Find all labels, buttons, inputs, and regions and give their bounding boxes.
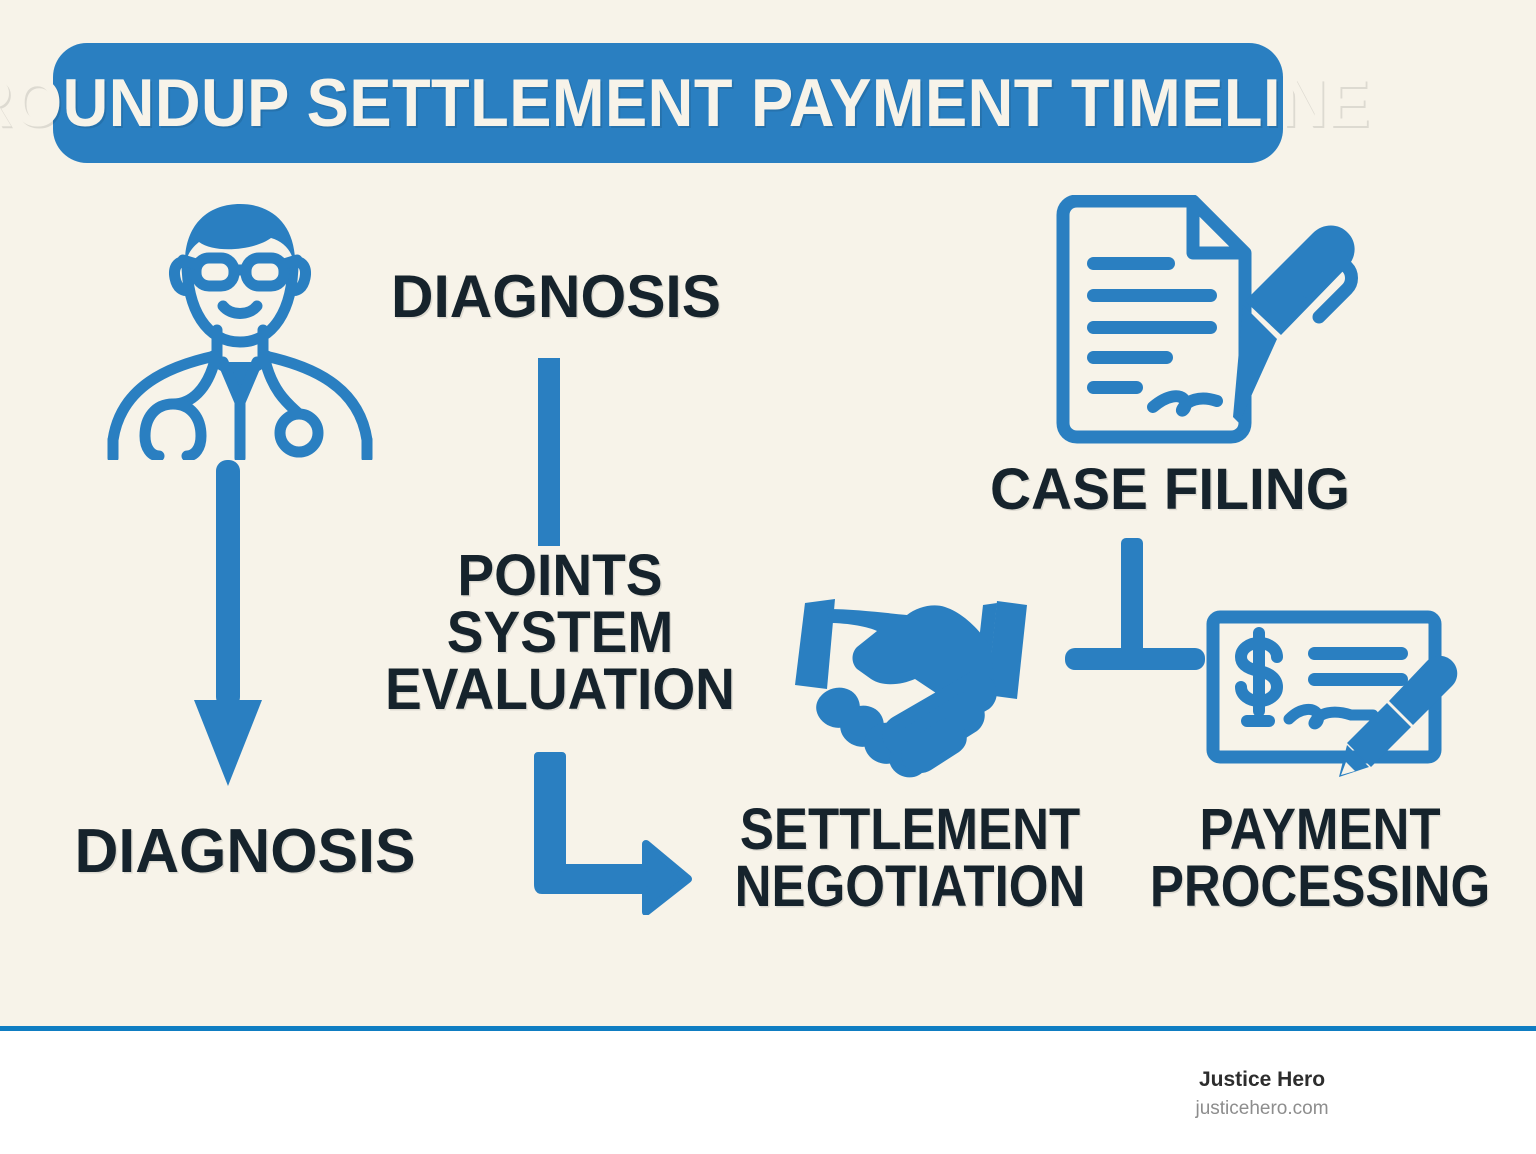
step-label-points-system-evaluation: POINTS SYSTEM EVALUATION [361,548,760,718]
doctor-icon [95,190,385,460]
handshake-icon [765,595,1065,790]
document-pen-icon [1045,195,1375,460]
infographic-root: ROUNDUP SETTLEMENT PAYMENT TIMELINE [0,0,1536,1154]
title-banner: ROUNDUP SETTLEMENT PAYMENT TIMELINE [53,43,1283,163]
footer-website-url: justicehero.com [1122,1095,1402,1124]
footer-branding: Justice Hero justicehero.com [1122,1065,1402,1124]
footer: Justice Hero justicehero.com [0,1031,1536,1154]
vertical-bar-connector-icon [538,358,560,546]
step-label-payment-processing: PAYMENT PROCESSING [1135,802,1505,916]
footer-brand-name: Justice Hero [1122,1065,1402,1095]
step-label-case-filing: CASE FILING [945,462,1396,519]
step-label-diagnosis-top: DIAGNOSIS [360,268,752,327]
tee-connector-icon [1065,538,1210,688]
step-label-settlement-negotiation: SETTLEMENT NEGOTIATION [725,802,1095,916]
check-pencil-icon [1205,605,1470,785]
down-arrow-icon [190,460,266,790]
elbow-arrow-icon [528,750,693,915]
step-label-diagnosis-bottom: DIAGNOSIS [44,822,446,883]
page-title: ROUNDUP SETTLEMENT PAYMENT TIMELINE [0,64,1369,142]
